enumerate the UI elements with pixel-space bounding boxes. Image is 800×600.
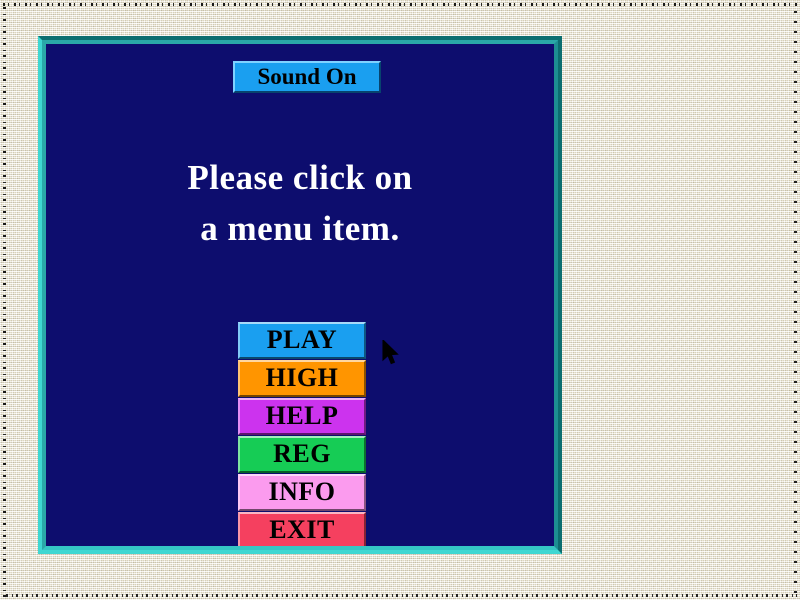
prompt-message: Please click on a menu item. (46, 152, 554, 254)
application-window: Sound On Please click on a menu item. PL… (38, 36, 562, 554)
prompt-line-2: a menu item. (46, 203, 554, 254)
desktop-background: Sound On Please click on a menu item. PL… (0, 0, 800, 600)
menu-item-help[interactable]: HELP (238, 398, 366, 435)
sound-toggle-button[interactable]: Sound On (233, 61, 381, 93)
main-menu: PLAY HIGH HELP REG INFO EXIT (238, 322, 366, 546)
menu-item-info[interactable]: INFO (238, 474, 366, 511)
mouse-pointer-icon (382, 340, 400, 367)
menu-item-play[interactable]: PLAY (238, 322, 366, 359)
menu-item-exit[interactable]: EXIT (238, 512, 366, 546)
window-canvas: Sound On Please click on a menu item. PL… (46, 44, 554, 546)
menu-item-reg[interactable]: REG (238, 436, 366, 473)
window-inner-bevel: Sound On Please click on a menu item. PL… (42, 40, 558, 550)
menu-item-high[interactable]: HIGH (238, 360, 366, 397)
prompt-line-1: Please click on (46, 152, 554, 203)
